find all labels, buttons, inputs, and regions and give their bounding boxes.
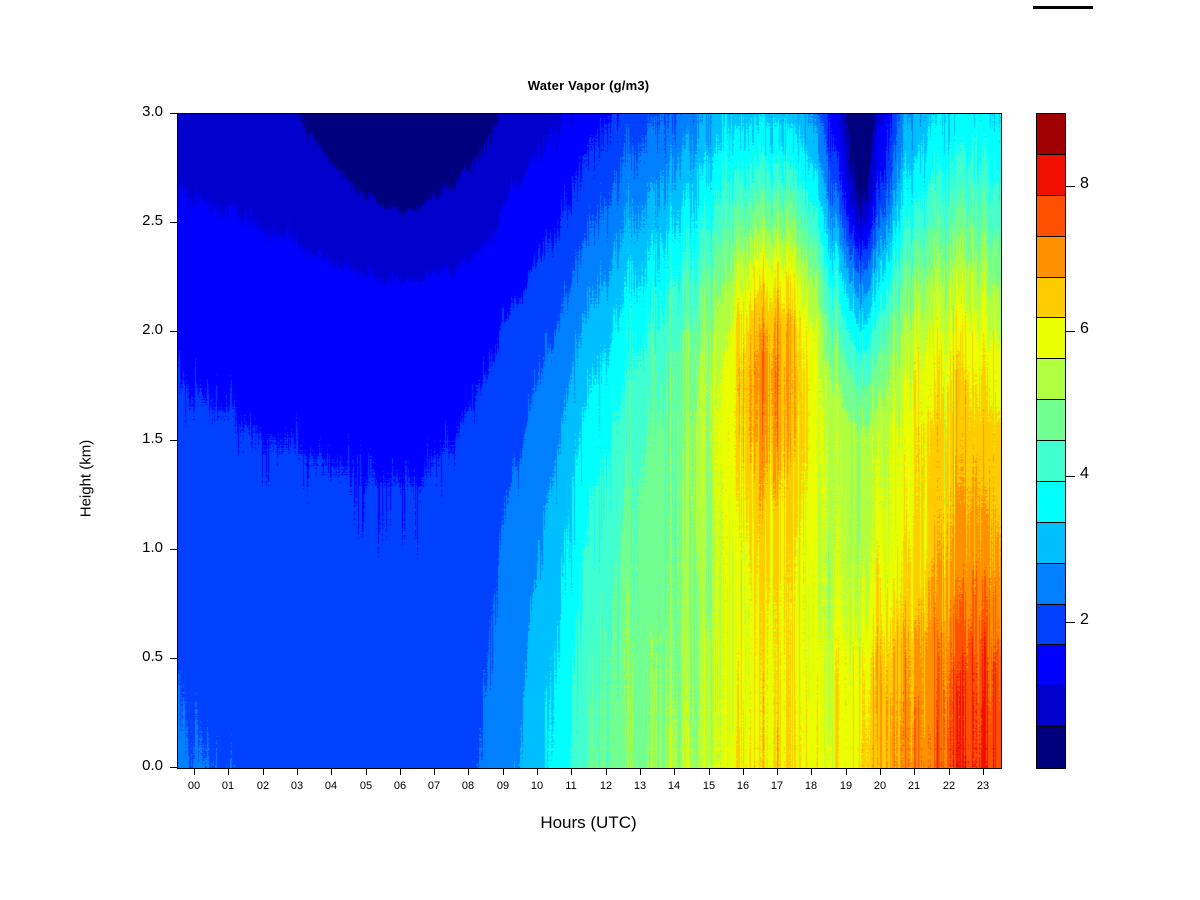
y-tick-label: 1.5 [105,430,163,447]
colorbar-band [1037,278,1065,319]
x-tick-mark [674,768,675,775]
y-tick-mark [170,440,177,441]
x-tick-mark [194,768,195,775]
colorbar-tick-mark [1065,622,1075,623]
y-tick-label: 2.5 [105,212,163,229]
heatmap-canvas [178,114,1001,768]
y-tick-label: 1.0 [105,539,163,556]
x-tick-label: 03 [282,780,312,792]
x-tick-label: 23 [968,780,998,792]
x-tick-label: 15 [694,780,724,792]
x-tick-mark [743,768,744,775]
y-tick-label: 0.5 [105,648,163,665]
x-tick-mark [811,768,812,775]
x-tick-label: 12 [591,780,621,792]
water-vapor-figure: Water Vapor (g/m3) Hours (UTC) Height (k… [0,0,1200,900]
x-tick-mark [709,768,710,775]
y-tick-mark [170,113,177,114]
colorbar-band [1037,523,1065,564]
colorbar-band [1037,237,1065,278]
colorbar-tick-label: 4 [1080,465,1108,483]
x-tick-mark [366,768,367,775]
y-tick-mark [170,549,177,550]
x-tick-label: 10 [522,780,552,792]
x-tick-label: 05 [351,780,381,792]
x-tick-mark [777,768,778,775]
x-tick-label: 01 [213,780,243,792]
x-tick-label: 17 [762,780,792,792]
x-tick-label: 20 [865,780,895,792]
x-tick-mark [949,768,950,775]
x-tick-mark [400,768,401,775]
colorbar-tick-mark [1065,476,1075,477]
y-tick-label: 0.0 [105,757,163,774]
colorbar-band [1037,114,1065,155]
colorbar-tick-mark [1065,331,1075,332]
colorbar-tick-label: 8 [1080,175,1108,193]
x-tick-mark [537,768,538,775]
top-edge-artifact [1033,6,1093,9]
x-tick-mark [331,768,332,775]
colorbar-band [1037,441,1065,482]
x-tick-mark [263,768,264,775]
colorbar-band [1037,359,1065,400]
contour-plot-area [177,113,1002,769]
colorbar-band [1037,196,1065,237]
colorbar-band [1037,564,1065,605]
x-tick-label: 11 [556,780,586,792]
x-tick-mark [571,768,572,775]
colorbar-band [1037,645,1065,686]
x-tick-label: 21 [899,780,929,792]
colorbar-band [1037,318,1065,359]
y-tick-mark [170,222,177,223]
x-tick-label: 06 [385,780,415,792]
x-tick-label: 00 [179,780,209,792]
x-tick-label: 13 [625,780,655,792]
y-tick-label: 3.0 [105,103,163,120]
colorbar-band [1037,155,1065,196]
colorbar-band [1037,605,1065,646]
x-tick-mark [606,768,607,775]
x-tick-label: 04 [316,780,346,792]
x-tick-mark [503,768,504,775]
colorbar [1036,113,1066,769]
x-axis-title: Hours (UTC) [177,813,1000,833]
x-tick-label: 09 [488,780,518,792]
x-tick-mark [468,768,469,775]
colorbar-tick-mark [1065,186,1075,187]
x-tick-mark [914,768,915,775]
x-tick-mark [880,768,881,775]
x-tick-label: 16 [728,780,758,792]
colorbar-band [1037,727,1065,768]
page-title: Water Vapor (g/m3) [177,78,1000,93]
y-tick-mark [170,658,177,659]
y-tick-label: 2.0 [105,321,163,338]
x-tick-label: 02 [248,780,278,792]
y-axis-title: Height (km) [78,389,95,569]
x-tick-label: 08 [453,780,483,792]
x-tick-mark [434,768,435,775]
x-tick-label: 07 [419,780,449,792]
colorbar-band [1037,482,1065,523]
x-tick-label: 19 [831,780,861,792]
colorbar-band [1037,400,1065,441]
x-tick-mark [228,768,229,775]
x-tick-label: 18 [796,780,826,792]
y-tick-mark [170,767,177,768]
colorbar-tick-label: 2 [1080,611,1108,629]
x-tick-mark [297,768,298,775]
y-tick-mark [170,331,177,332]
colorbar-tick-label: 6 [1080,320,1108,338]
x-tick-mark [640,768,641,775]
x-tick-mark [846,768,847,775]
x-tick-label: 14 [659,780,689,792]
x-tick-mark [983,768,984,775]
x-tick-label: 22 [934,780,964,792]
colorbar-band [1037,686,1065,727]
